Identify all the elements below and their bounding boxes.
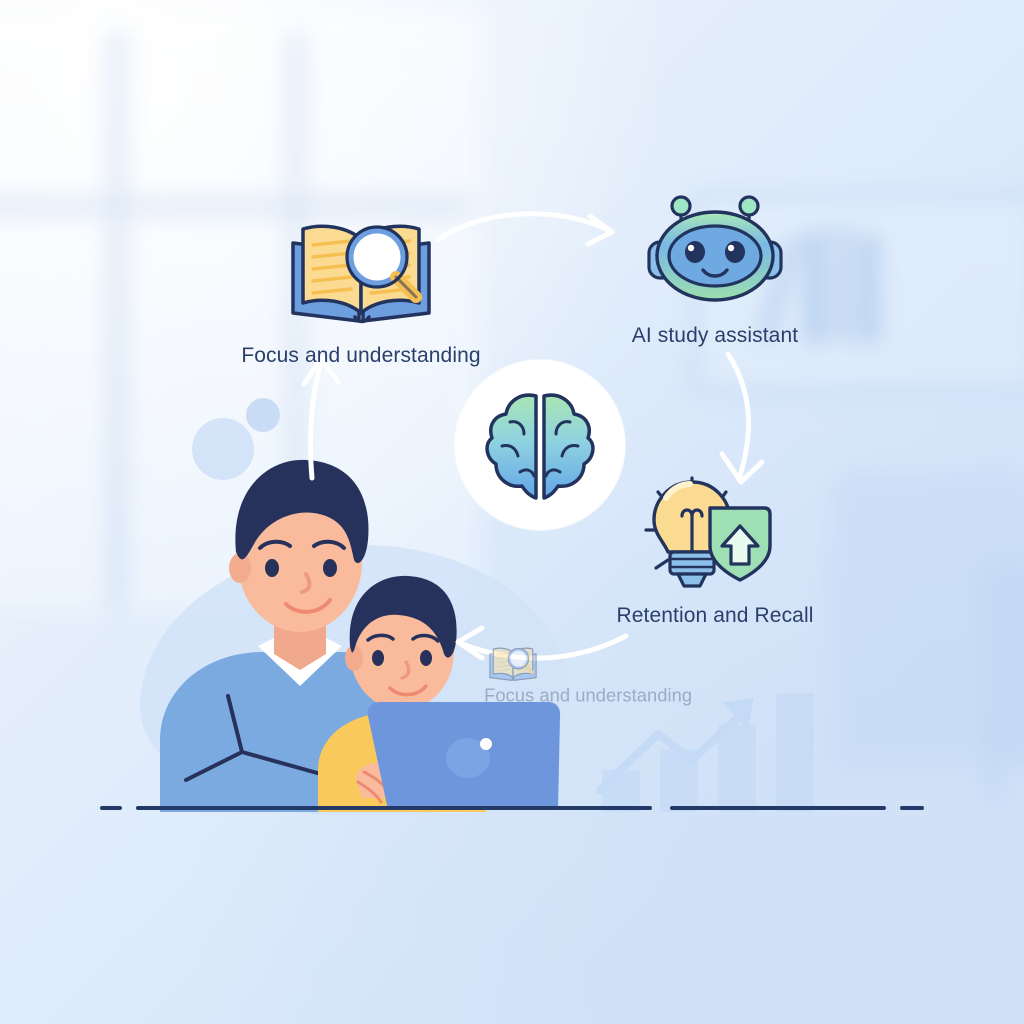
- robot-eye-left: [685, 241, 705, 263]
- node-ai-label: AI study assistant: [600, 324, 830, 348]
- adult-eye: [323, 559, 337, 577]
- decorative-circle: [246, 398, 280, 432]
- robot-eye-glint: [728, 245, 734, 251]
- child-eye: [372, 650, 384, 666]
- lightbulb-shield-icon: [600, 472, 830, 594]
- node-focus-label: Focus and understanding: [236, 344, 486, 368]
- sofa-leg: [985, 755, 1001, 799]
- robot-eye-right: [725, 241, 745, 263]
- window-mullion-vertical: [110, 30, 124, 610]
- laptop: [352, 700, 562, 812]
- book-magnifier-icon: [236, 212, 486, 334]
- node-retention-recall[interactable]: Retention and Recall: [600, 472, 830, 628]
- arrow-retention-to-scene: [452, 622, 632, 672]
- ground-main: [136, 806, 652, 810]
- shelf-book: [857, 235, 879, 343]
- child-eye: [420, 650, 432, 666]
- node-retention-label: Retention and Recall: [600, 604, 830, 628]
- illustration-canvas: Focus and understanding: [0, 0, 1024, 1024]
- brain-icon: [480, 386, 600, 504]
- robot-antenna-bulb-right: [740, 197, 758, 215]
- adult-eye: [265, 559, 279, 577]
- node-ai-study-assistant[interactable]: AI study assistant: [600, 192, 830, 348]
- shelf-book: [833, 225, 850, 343]
- ground-main-right: [670, 806, 886, 810]
- arrow-scene-to-focus: [286, 352, 346, 482]
- lightbulb-socket: [678, 574, 706, 586]
- robot-eye-glint: [688, 245, 694, 251]
- ground-dash: [100, 806, 122, 810]
- sofa-arm: [980, 560, 1024, 760]
- ground-line: [100, 806, 924, 810]
- laptop-logo-dot: [480, 738, 492, 750]
- robot-head-icon: [600, 192, 830, 314]
- robot-antenna-bulb-left: [672, 197, 690, 215]
- ground-dash: [900, 806, 924, 810]
- arrow-ai-to-retention: [704, 348, 784, 488]
- lightbulb-base: [670, 552, 714, 574]
- ghost-duplicate-label: Focus and understanding: [484, 685, 542, 706]
- sofa-prop: [830, 470, 1024, 770]
- ghost-book-magnifier-icon: [484, 645, 542, 685]
- ghost-duplicate-node: Focus and understanding: [484, 645, 542, 706]
- node-focus[interactable]: Focus and understanding: [236, 212, 486, 368]
